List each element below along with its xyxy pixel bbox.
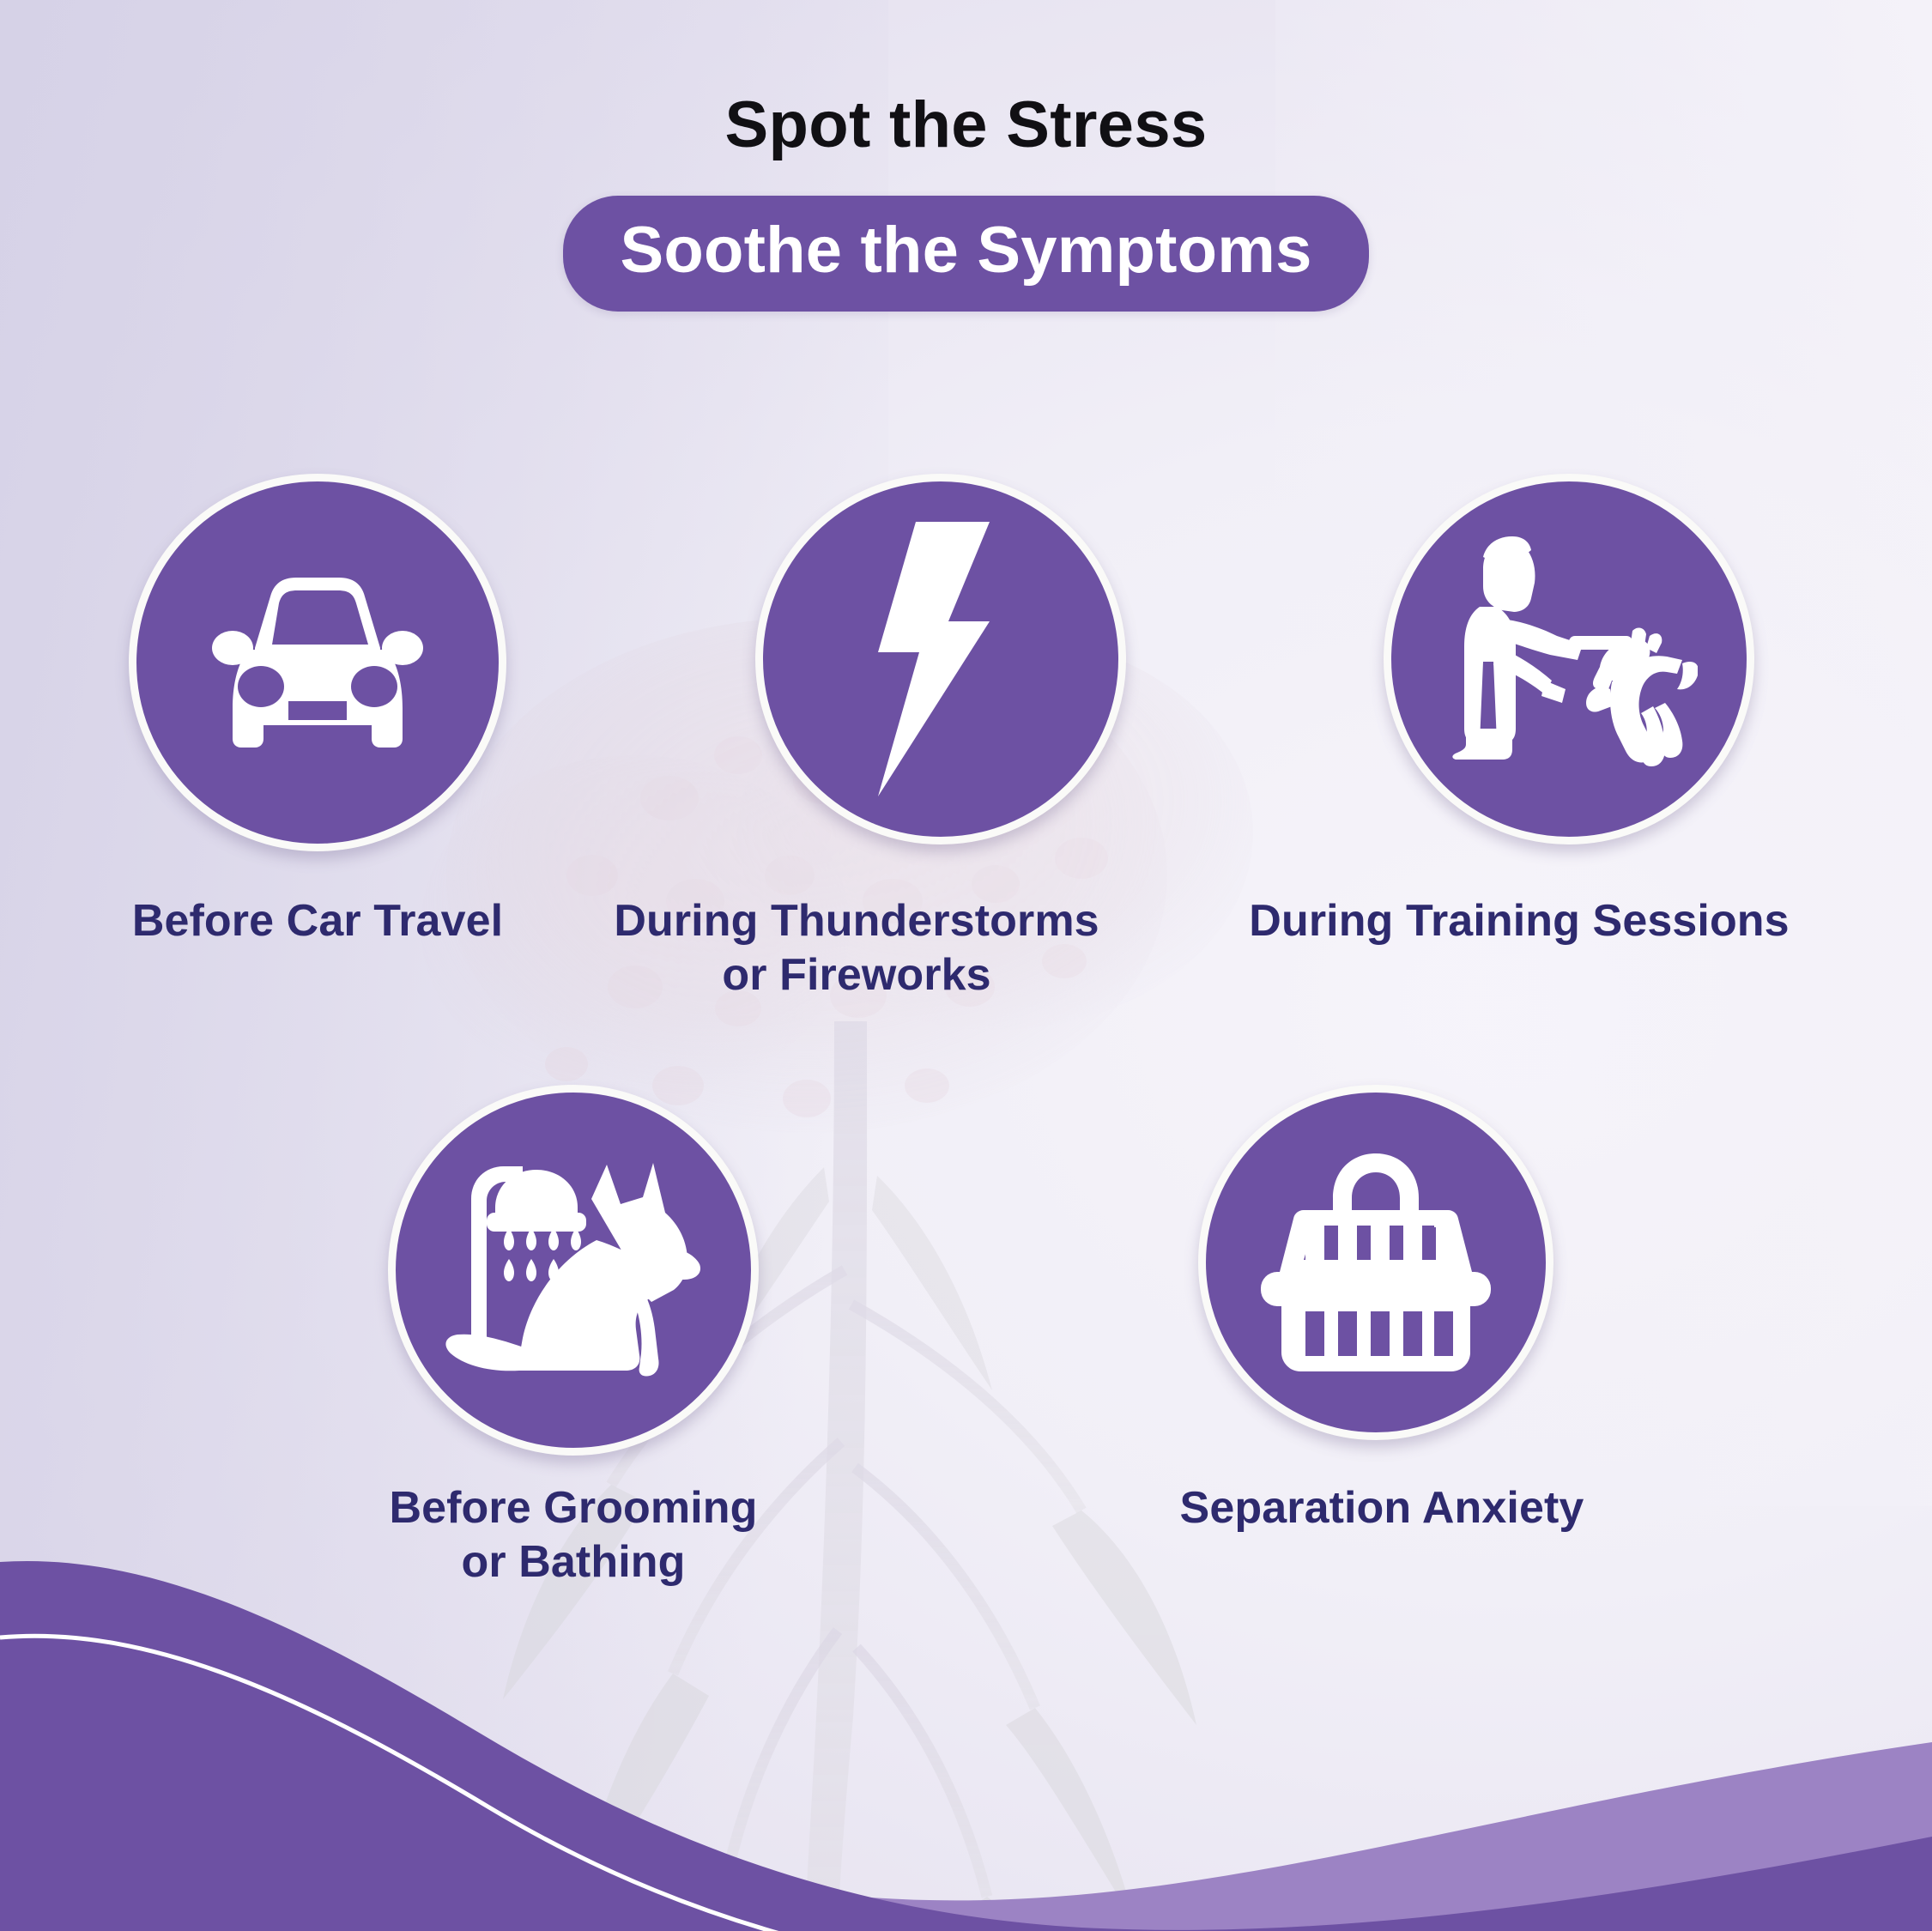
pet-carrier-icon	[1247, 1147, 1505, 1378]
person-training-dog-icon	[1440, 535, 1698, 784]
caption-during-thunderstorms: During Thunderstorms or Fireworks	[591, 894, 1123, 1003]
page-title: Spot the Stress	[0, 93, 1932, 158]
caption-line-1: Before Car Travel	[51, 894, 584, 948]
purple-wave-footer-icon	[0, 1528, 1932, 1931]
lightning-bolt-icon	[859, 522, 1022, 796]
car-front-icon	[193, 555, 442, 770]
header: Spot the Stress Soothe the Symptoms	[0, 0, 1932, 312]
icon-circle-separation-anxiety[interactable]	[1198, 1085, 1553, 1440]
caption-line-1: During Thunderstorms	[591, 894, 1123, 948]
caption-during-training-sessions: During Training Sessions	[1219, 894, 1820, 948]
icon-circle-before-car-travel[interactable]	[129, 474, 506, 851]
caption-before-car-travel: Before Car Travel	[51, 894, 584, 948]
caption-line-2: or Fireworks	[591, 948, 1123, 1002]
icon-circle-during-training-sessions[interactable]	[1384, 474, 1754, 844]
icon-circle-before-grooming-or-bathing[interactable]	[388, 1085, 759, 1456]
subtitle-pill: Soothe the Symptoms	[563, 196, 1368, 312]
dog-shower-icon	[440, 1146, 706, 1395]
icon-circle-during-thunderstorms[interactable]	[755, 474, 1126, 844]
caption-line-1: During Training Sessions	[1219, 894, 1820, 948]
